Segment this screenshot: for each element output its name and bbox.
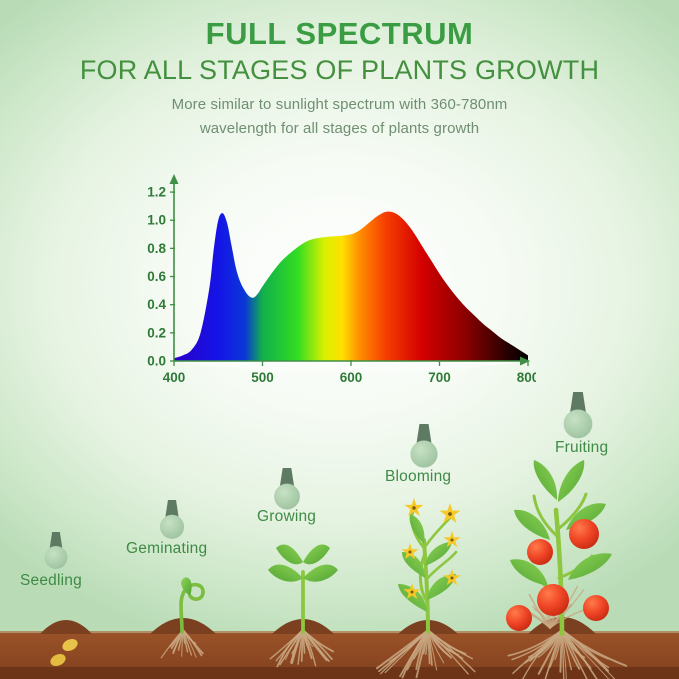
leaf xyxy=(268,564,303,581)
spectrum-chart: 0.00.20.40.60.81.01.2 400500600700800 xyxy=(132,168,536,393)
root xyxy=(270,630,303,659)
x-tick-label: 500 xyxy=(251,370,274,385)
description-line-1: More similar to sunlight spectrum with 3… xyxy=(0,94,679,116)
root xyxy=(550,599,559,628)
root xyxy=(385,630,428,673)
root xyxy=(428,630,444,663)
root xyxy=(173,630,183,651)
root xyxy=(560,630,562,672)
leaf xyxy=(402,552,425,578)
root xyxy=(555,630,562,659)
flower-petals xyxy=(440,503,461,523)
root xyxy=(562,630,571,670)
spectrum-chart-svg: 0.00.20.40.60.81.01.2 400500600700800 xyxy=(132,168,536,393)
flower-petals xyxy=(401,543,418,559)
stem xyxy=(556,510,562,634)
root xyxy=(550,586,552,628)
bulb-icon-growing xyxy=(274,468,300,509)
root xyxy=(428,630,437,670)
root xyxy=(562,630,589,679)
bulb-glass xyxy=(410,441,437,468)
flower xyxy=(443,531,460,547)
leaf xyxy=(510,559,548,586)
root xyxy=(428,630,462,658)
root xyxy=(529,630,562,657)
fruit xyxy=(583,595,609,621)
root xyxy=(161,630,183,658)
bulb-cap xyxy=(50,532,63,549)
root xyxy=(529,595,550,628)
root xyxy=(550,606,571,628)
soil-mound-growing xyxy=(272,619,334,634)
root xyxy=(550,604,571,628)
infographic-canvas: FULL SPECTRUM FOR ALL STAGES OF PLANTS G… xyxy=(0,0,679,679)
root xyxy=(538,630,562,657)
root xyxy=(562,630,566,679)
root xyxy=(407,630,428,670)
branch xyxy=(426,552,456,580)
root xyxy=(428,630,468,674)
seeds-group xyxy=(48,637,79,669)
root xyxy=(303,630,333,651)
bulb-glass xyxy=(160,515,184,539)
x-tick-label: 400 xyxy=(163,370,186,385)
root xyxy=(303,630,312,658)
root xyxy=(550,605,600,628)
root xyxy=(545,630,562,679)
root xyxy=(183,630,191,655)
y-tick-label: 0.2 xyxy=(147,325,166,340)
root xyxy=(303,630,329,661)
root xyxy=(562,630,626,666)
root xyxy=(292,630,303,654)
fruit xyxy=(537,584,569,616)
root xyxy=(303,630,332,659)
plant-growing xyxy=(268,544,338,632)
root xyxy=(428,630,430,663)
root xyxy=(550,630,562,667)
root xyxy=(539,630,562,674)
root xyxy=(562,630,584,660)
root xyxy=(508,630,562,656)
leaf xyxy=(303,544,330,564)
bulb-glass xyxy=(564,410,593,439)
root xyxy=(428,630,475,672)
root xyxy=(562,630,579,669)
root xyxy=(303,630,316,666)
y-tick-label: 1.2 xyxy=(147,185,166,200)
y-tick-label: 1.0 xyxy=(147,213,166,228)
root xyxy=(550,586,577,628)
branch xyxy=(424,518,450,548)
y-tick-label: 0.0 xyxy=(147,354,166,369)
sprout-leaf xyxy=(181,577,191,596)
root xyxy=(183,630,201,655)
root xyxy=(183,630,187,652)
root xyxy=(428,630,451,658)
leaf xyxy=(303,564,338,581)
leaf xyxy=(566,503,606,530)
chart-x-tick-labels: 400500600700800 xyxy=(163,370,536,385)
root xyxy=(526,610,550,628)
root xyxy=(291,630,303,663)
root xyxy=(182,630,183,656)
soil-top-edge xyxy=(0,631,679,634)
bulb-icon-seedling xyxy=(45,532,68,569)
root xyxy=(521,609,550,628)
y-tick-label: 0.4 xyxy=(147,297,166,312)
flower xyxy=(443,569,460,585)
flower-center xyxy=(412,506,415,509)
root xyxy=(562,630,623,679)
root xyxy=(286,630,303,660)
soil-mound-blooming xyxy=(398,620,458,634)
root xyxy=(533,606,550,628)
root xyxy=(535,609,550,628)
soil-band xyxy=(0,631,679,679)
bulb-icon-fruiting xyxy=(564,392,593,438)
branch xyxy=(557,494,586,530)
bulb-cap xyxy=(280,468,294,487)
root xyxy=(562,630,616,679)
flower-center xyxy=(450,538,453,541)
root xyxy=(416,630,428,669)
root xyxy=(530,630,562,661)
leaf xyxy=(534,460,557,500)
root xyxy=(428,630,448,655)
bulb-cap xyxy=(416,424,431,444)
chart-y-tick-labels: 0.00.20.40.60.81.01.2 xyxy=(147,185,166,369)
root xyxy=(302,630,303,661)
sprout-stem xyxy=(181,585,203,632)
root xyxy=(277,630,303,666)
root xyxy=(512,630,562,660)
root xyxy=(414,630,428,659)
bulb-glass xyxy=(274,484,300,510)
root xyxy=(183,630,185,643)
fruit xyxy=(569,519,599,549)
plant-geminating xyxy=(181,577,203,632)
flower-petals xyxy=(443,569,460,585)
leaf xyxy=(410,514,425,544)
root xyxy=(280,630,303,664)
x-tick-label: 600 xyxy=(340,370,363,385)
root xyxy=(183,630,196,657)
root xyxy=(390,630,428,662)
root xyxy=(172,630,183,648)
stage-label-seedling: Seedling xyxy=(20,572,82,590)
bulb-icon-blooming xyxy=(410,424,437,468)
root xyxy=(562,630,608,659)
fruit xyxy=(527,539,553,565)
root xyxy=(428,630,451,652)
root xyxy=(543,630,562,679)
page-subtitle-heading: FOR ALL STAGES OF PLANTS GROWTH xyxy=(0,55,679,85)
y-tick-label: 0.6 xyxy=(147,269,166,284)
soil-dark-layer xyxy=(0,667,679,679)
page-title: FULL SPECTRUM xyxy=(0,18,679,51)
leaf xyxy=(514,510,550,540)
leaf xyxy=(425,542,452,566)
root xyxy=(417,630,428,677)
roots-group xyxy=(161,586,626,679)
root xyxy=(400,630,428,676)
bulb-icon-geminating xyxy=(160,500,184,539)
root xyxy=(513,609,550,628)
header: FULL SPECTRUM FOR ALL STAGES OF PLANTS G… xyxy=(0,18,679,139)
root xyxy=(379,630,428,671)
bulb-cap xyxy=(570,392,586,413)
bulb-cap xyxy=(165,500,179,518)
stage-label-geminating: Geminating xyxy=(126,540,207,558)
root xyxy=(525,630,562,663)
stem xyxy=(424,540,428,632)
branch xyxy=(420,556,426,600)
flower-center xyxy=(408,550,411,553)
flowers-group xyxy=(401,498,460,599)
root xyxy=(170,630,183,646)
flower-center xyxy=(450,576,453,579)
root xyxy=(428,630,458,655)
root xyxy=(532,630,562,658)
root xyxy=(381,630,428,674)
branch xyxy=(534,568,560,600)
root xyxy=(550,590,584,628)
leaf xyxy=(558,460,584,502)
root xyxy=(426,630,428,654)
root xyxy=(562,630,609,668)
x-tick-label: 800 xyxy=(517,370,536,385)
seed xyxy=(48,652,67,669)
root xyxy=(428,630,466,654)
root xyxy=(547,597,550,628)
flower xyxy=(403,583,420,599)
plant-fruiting xyxy=(506,460,612,634)
root xyxy=(303,630,309,649)
root xyxy=(173,630,183,653)
root xyxy=(562,630,584,658)
leaf xyxy=(398,584,427,612)
flower-petals xyxy=(405,498,424,516)
root xyxy=(550,600,562,628)
soil-layer xyxy=(0,633,679,679)
branch xyxy=(559,556,592,578)
flower-center xyxy=(410,590,413,593)
spectrum-area-path xyxy=(174,212,528,361)
leaf xyxy=(568,553,612,580)
root xyxy=(183,630,196,643)
soil-mound-seedling xyxy=(40,620,92,634)
root xyxy=(179,630,183,650)
flower xyxy=(401,543,418,559)
leaf xyxy=(276,544,303,564)
stage-label-blooming: Blooming xyxy=(385,468,451,486)
fruit xyxy=(506,605,532,631)
root xyxy=(377,630,428,668)
soil-mound-geminating xyxy=(150,618,216,634)
root xyxy=(292,630,303,663)
flower xyxy=(440,503,461,523)
root xyxy=(513,630,562,673)
root xyxy=(562,630,564,679)
flower-petals xyxy=(403,583,420,599)
flower-center xyxy=(448,512,452,516)
root xyxy=(428,630,432,665)
root xyxy=(428,630,472,659)
root xyxy=(298,630,303,664)
soil-mounds xyxy=(40,617,596,634)
root xyxy=(518,630,562,679)
soil-mound-fruiting xyxy=(528,617,596,634)
root xyxy=(562,630,608,671)
root xyxy=(276,630,303,661)
root xyxy=(562,630,591,668)
flower xyxy=(405,498,424,516)
root xyxy=(303,630,305,653)
root xyxy=(403,630,428,677)
plant-blooming xyxy=(398,498,461,632)
root xyxy=(183,630,203,653)
root xyxy=(424,630,428,654)
branch xyxy=(534,496,557,536)
stage-label-growing: Growing xyxy=(257,508,316,526)
branch xyxy=(412,510,424,548)
seed xyxy=(60,637,79,654)
y-axis-arrow xyxy=(170,174,179,184)
root xyxy=(303,630,324,655)
y-tick-label: 0.8 xyxy=(147,241,166,256)
root xyxy=(303,630,313,646)
bulb-glass xyxy=(45,546,68,569)
flower-petals xyxy=(443,531,460,547)
x-tick-label: 700 xyxy=(428,370,451,385)
root xyxy=(541,593,550,628)
root xyxy=(303,630,327,660)
root xyxy=(562,630,603,679)
leaf xyxy=(427,574,456,600)
stage-label-fruiting: Fruiting xyxy=(555,439,608,457)
description-line-2: wavelength for all stages of plants grow… xyxy=(0,118,679,140)
